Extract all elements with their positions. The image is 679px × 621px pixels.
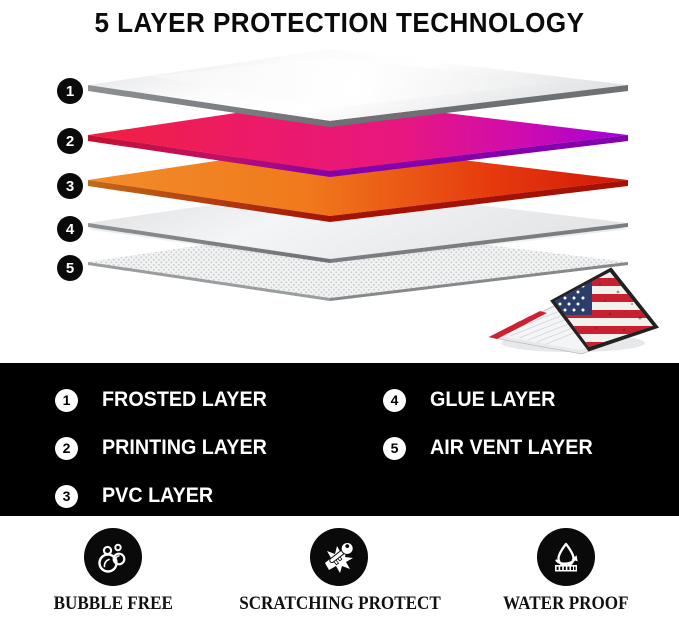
legend-badge-2: 2 (55, 437, 78, 460)
stack-callout-2: 2 (57, 128, 83, 154)
legend-item-frosted-layer: 1 FROSTED LAYER (55, 377, 277, 423)
layer-plate-1-frosted (88, 49, 628, 127)
legend-item-air-vent-layer: 5 AIR VENT LAYER (383, 425, 603, 471)
legend-badge-1: 1 (55, 389, 78, 412)
feature-scratching-protect: SCRATCHING PROTECT (226, 516, 452, 621)
feature-label-water-proof: WATER PROOF (503, 593, 629, 615)
stack-callout-5: 5 (57, 255, 83, 281)
legend-label-5: AIR VENT LAYER (430, 436, 593, 460)
feature-strip: BUBBLE FREE SCRATCHING PROTECT (0, 516, 679, 621)
page-title-bar: 5 LAYER PROTECTION TECHNOLOGY (0, 0, 679, 46)
legend-item-pvc-layer: 3 PVC LAYER (55, 473, 277, 519)
legend-badge-3: 3 (55, 485, 78, 508)
page-title: 5 LAYER PROTECTION TECHNOLOGY (95, 7, 585, 39)
legend-label-1: FROSTED LAYER (102, 388, 267, 412)
bubbles-icon (84, 528, 142, 586)
feature-label-bubble-free: BUBBLE FREE (54, 593, 173, 615)
legend-label-2: PRINTING LAYER (102, 436, 267, 460)
legend-band: 1 FROSTED LAYER 2 PRINTING LAYER 3 PVC L… (0, 363, 679, 516)
legend-badge-5: 5 (383, 437, 406, 460)
water-drop-icon (537, 528, 595, 586)
key-scratch-icon (310, 528, 368, 586)
feature-bubble-free: BUBBLE FREE (0, 516, 226, 621)
legend-label-4: GLUE LAYER (430, 388, 555, 412)
legend-column-left: 1 FROSTED LAYER 2 PRINTING LAYER 3 PVC L… (55, 377, 277, 521)
feature-label-scratching-protect: SCRATCHING PROTECT (239, 593, 441, 615)
legend-column-right: 4 GLUE LAYER 5 AIR VENT LAYER (383, 377, 603, 473)
exploded-layer-diagram (0, 46, 679, 363)
legend-item-printing-layer: 2 PRINTING LAYER (55, 425, 277, 471)
stack-callout-4: 4 (57, 216, 83, 242)
stack-callout-3: 3 (57, 173, 83, 199)
legend-label-3: PVC LAYER (102, 484, 213, 508)
feature-water-proof: WATER PROOF (453, 516, 679, 621)
legend-item-glue-layer: 4 GLUE LAYER (383, 377, 603, 423)
layer-stack-illustration: 1 2 3 4 5 (0, 46, 679, 363)
legend-badge-4: 4 (383, 389, 406, 412)
stack-callout-1: 1 (57, 78, 83, 104)
